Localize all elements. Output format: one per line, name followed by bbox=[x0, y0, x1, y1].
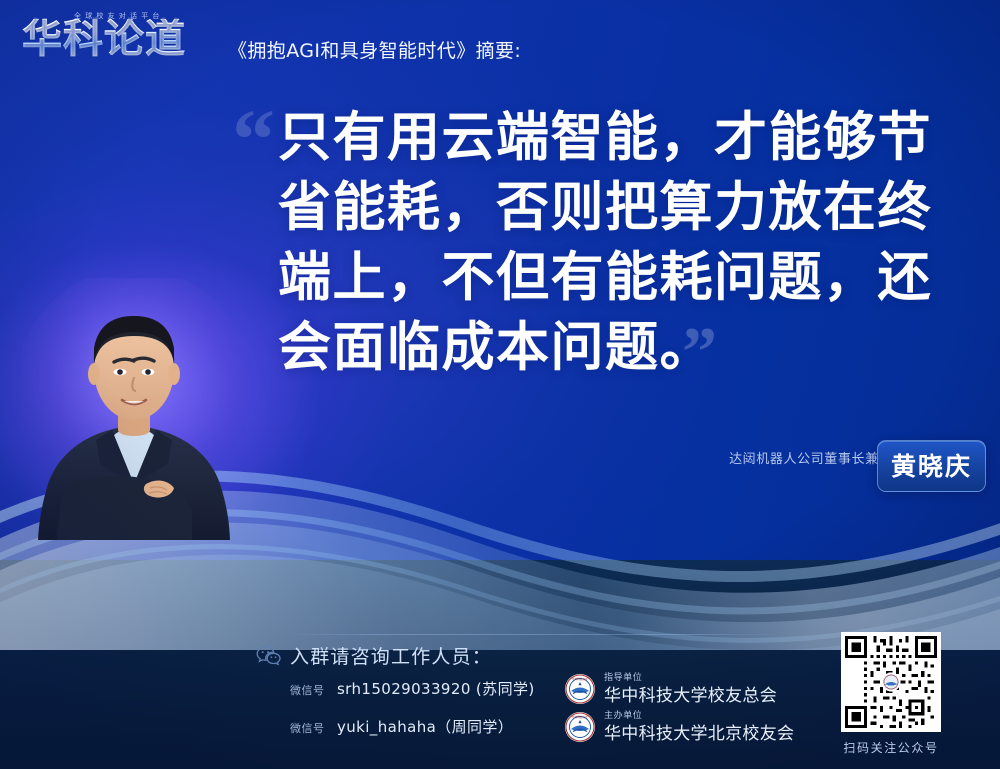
svg-text:华中科技大学: 华中科技大学 bbox=[572, 715, 588, 719]
header: 全球校友对话平台 华科论道 《拥抱AGI和具身智能时代》摘要: bbox=[0, 0, 1000, 88]
wechat-icon bbox=[256, 646, 282, 666]
contact-label: 微信号 bbox=[290, 722, 325, 735]
join-group-title: 入群请咨询工作人员： bbox=[290, 642, 492, 669]
qr-code[interactable] bbox=[841, 632, 941, 732]
university-seal-icon: 华中科技大学 bbox=[564, 711, 596, 743]
quote-text: 只有用云端智能，才能够节 省能耗，否则把算力放在终 端上，不但有能耗问题，还 会… bbox=[278, 103, 938, 383]
header-subtitle: 《拥抱AGI和具身智能时代》摘要: bbox=[228, 36, 521, 63]
quote-close-mark: ” bbox=[682, 318, 713, 388]
logo-wordmark: 华科论道 bbox=[22, 19, 186, 59]
quote-line: 端上，不但有能耗问题，还 bbox=[278, 243, 938, 313]
contact-row: 微信号 yuki_hahaha（周同学） bbox=[290, 716, 513, 737]
quote-line: 会面临成本问题。 bbox=[278, 313, 938, 383]
svg-text:华中科技大学: 华中科技大学 bbox=[572, 677, 588, 681]
contact-label: 微信号 bbox=[290, 684, 325, 697]
qr-block: 扫码关注公众号 bbox=[836, 632, 946, 756]
quote-line: 省能耗，否则把算力放在终 bbox=[278, 173, 938, 243]
quote-open-mark: “ bbox=[232, 96, 271, 182]
speaker-name-badge: 黄晓庆 bbox=[877, 440, 986, 492]
organization-name: 华中科技大学北京校友会 bbox=[604, 719, 794, 744]
footer-divider bbox=[288, 634, 778, 635]
organization-name: 华中科技大学校友总会 bbox=[604, 681, 777, 706]
university-seal-icon: 华中科技大学 bbox=[564, 673, 596, 705]
quote-line: 只有用云端智能，才能够节 bbox=[278, 103, 938, 173]
contact-value[interactable]: srh15029033920 (苏同学) bbox=[337, 680, 535, 698]
speaker-portrait bbox=[22, 278, 246, 540]
contact-row: 微信号 srh15029033920 (苏同学) bbox=[290, 678, 535, 699]
contact-value[interactable]: yuki_hahaha（周同学） bbox=[337, 718, 513, 736]
brand-logo[interactable]: 全球校友对话平台 华科论道 bbox=[22, 10, 222, 72]
poster-root: 全球校友对话平台 华科论道 《拥抱AGI和具身智能时代》摘要: “ 只有用云端智… bbox=[0, 0, 1000, 769]
qr-caption: 扫码关注公众号 bbox=[836, 739, 946, 756]
